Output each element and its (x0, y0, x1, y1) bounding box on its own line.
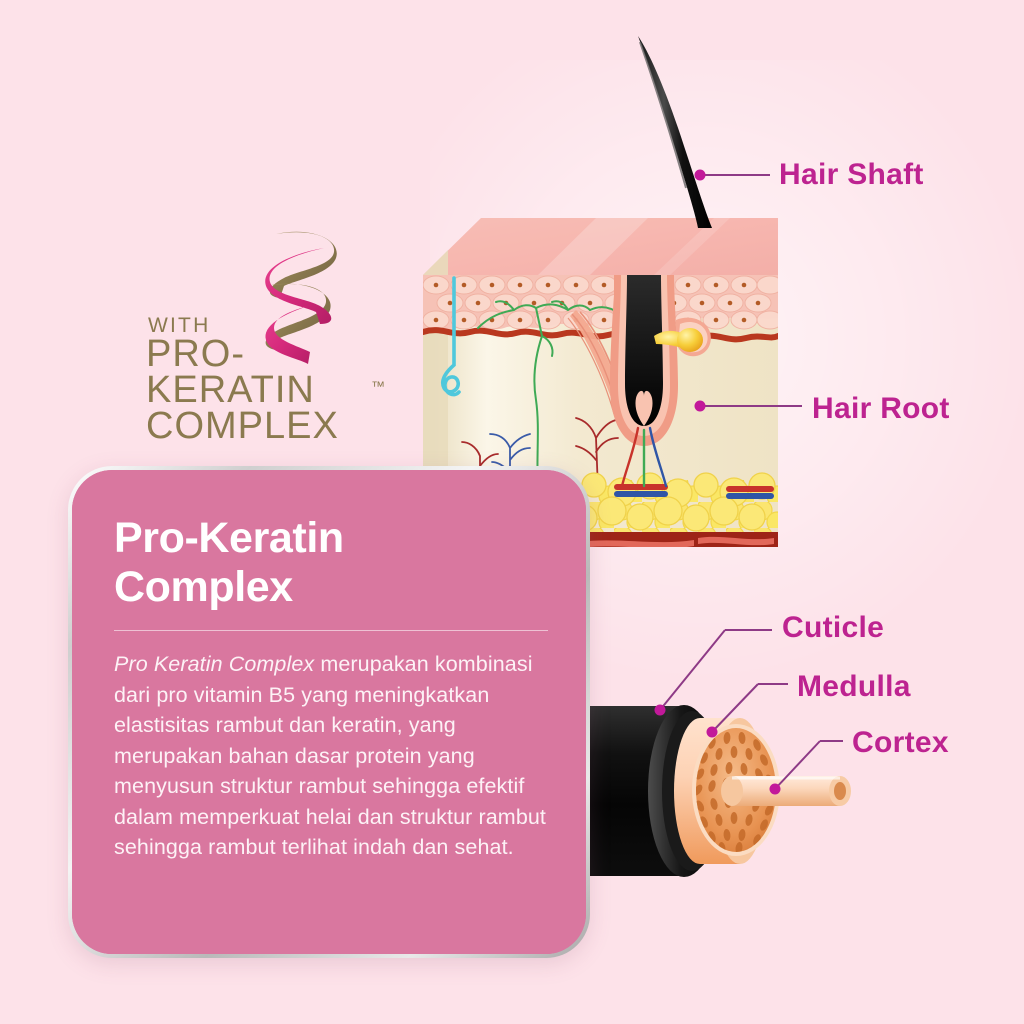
card-divider (114, 630, 548, 631)
pro-keratin-info-card: Pro-Keratin Complex Pro Keratin Complex … (68, 466, 590, 958)
label-medulla: Medulla (797, 670, 911, 704)
card-body-emphasis: Pro Keratin Complex (114, 652, 314, 676)
label-cortex: Cortex (852, 726, 949, 760)
hair-shaft-illustration (600, 28, 730, 228)
hair-strand-cross-section-illustration (572, 688, 872, 893)
card-body-rest: merupakan kombinasi dari pro vitamin B5 … (114, 652, 546, 859)
logo-brand-name: PRO- KERATIN COMPLEX (146, 336, 339, 444)
logo-trademark: ™ (371, 378, 385, 394)
label-cuticle: Cuticle (782, 611, 884, 645)
label-hair-shaft: Hair Shaft (779, 158, 924, 192)
card-title: Pro-Keratin Complex (114, 514, 546, 612)
card-inner: Pro-Keratin Complex Pro Keratin Complex … (72, 470, 586, 954)
card-body-text: Pro Keratin Complex merupakan kombinasi … (114, 649, 546, 863)
poster-canvas: Hair Shaft Hair Root Cuticle Medulla Cor… (0, 0, 1024, 1024)
label-hair-root: Hair Root (812, 392, 950, 426)
